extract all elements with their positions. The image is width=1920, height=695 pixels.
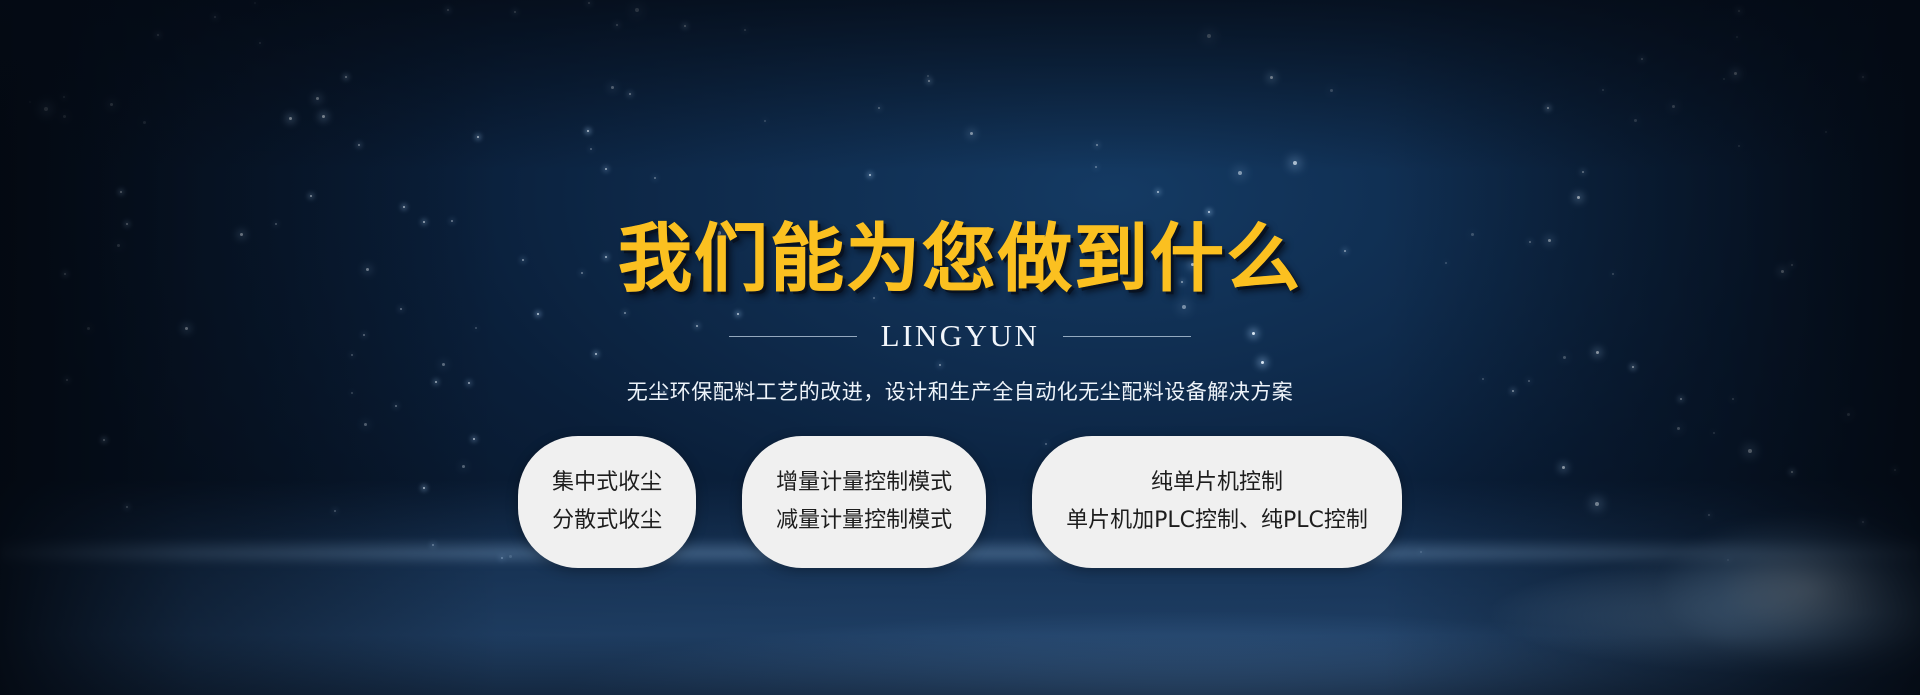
pill-line: 单片机加PLC控制、纯PLC控制 bbox=[1066, 509, 1368, 533]
feature-pill-control-system[interactable]: 纯单片机控制 单片机加PLC控制、纯PLC控制 bbox=[1032, 436, 1402, 568]
pill-line: 减量计量控制模式 bbox=[776, 509, 952, 533]
tagline-text: 无尘环保配料工艺的改进，设计和生产全自动化无尘配料设备解决方案 bbox=[627, 376, 1294, 406]
pill-line: 增量计量控制模式 bbox=[776, 471, 952, 495]
divider-line-left bbox=[729, 336, 857, 337]
feature-pill-metering-mode[interactable]: 增量计量控制模式 减量计量控制模式 bbox=[742, 436, 986, 568]
banner-content: 我们能为您做到什么 LINGYUN 无尘环保配料工艺的改进，设计和生产全自动化无… bbox=[0, 0, 1920, 695]
divider-line-right bbox=[1063, 336, 1191, 337]
page-title: 我们能为您做到什么 bbox=[618, 222, 1302, 296]
feature-pill-dust-collection[interactable]: 集中式收尘 分散式收尘 bbox=[518, 436, 696, 568]
brand-subtitle-row: LINGYUN bbox=[729, 318, 1192, 354]
pill-line: 分散式收尘 bbox=[552, 509, 662, 533]
pill-line: 集中式收尘 bbox=[552, 471, 662, 495]
feature-pill-group: 集中式收尘 分散式收尘 增量计量控制模式 减量计量控制模式 纯单片机控制 单片机… bbox=[518, 436, 1402, 568]
hero-banner: 我们能为您做到什么 LINGYUN 无尘环保配料工艺的改进，设计和生产全自动化无… bbox=[0, 0, 1920, 695]
pill-line: 纯单片机控制 bbox=[1066, 471, 1368, 495]
brand-name-en: LINGYUN bbox=[881, 318, 1040, 354]
